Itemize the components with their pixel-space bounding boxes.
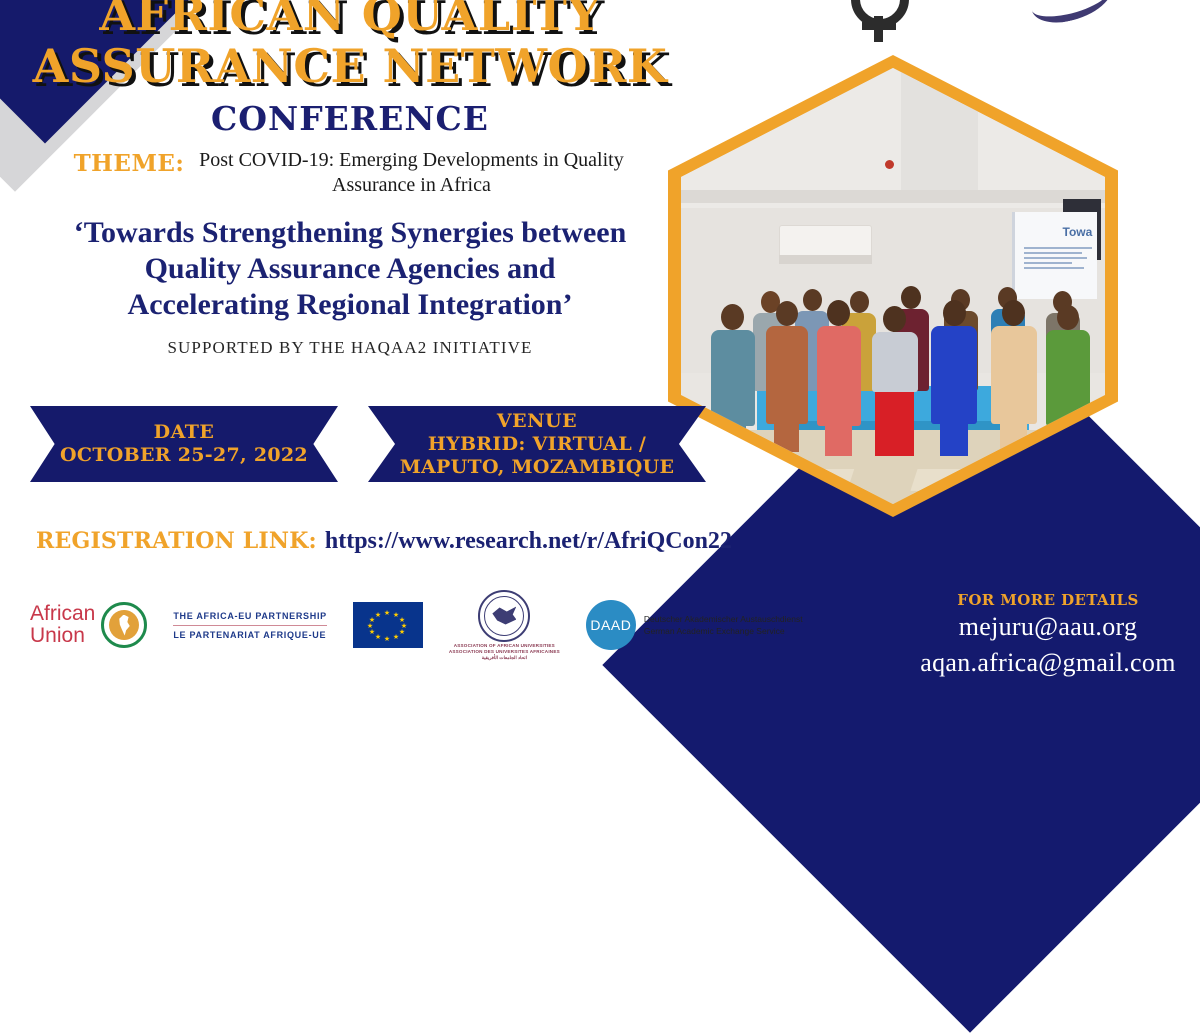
daad-line-en: German Academic Exchange Service [644, 625, 803, 637]
aau-caption-ar: اتحاد الجامعات الأفريقية [482, 655, 527, 661]
slogan-line-3: Accelerating Regional Integration’ [0, 287, 700, 323]
photo-ceiling-beam [681, 190, 1105, 203]
theme-text: Post COVID-19: Emerging Developments in … [196, 148, 626, 198]
photo-ceiling-panel [901, 68, 977, 199]
european-union-flag-icon: ★ ★ ★ ★ ★ ★ ★ ★ ★ ★ ★ ★ [353, 602, 423, 648]
photo-screen-line [1024, 262, 1071, 264]
supported-by-text: SUPPORTED BY THE HAQAA2 INITIATIVE [0, 338, 700, 358]
partner-logo-strip: African Union THE AFRICA-EU PARTNERSHIP … [30, 579, 803, 671]
theme-label: THEME: [74, 148, 185, 177]
venue-ribbon-line-2: MAPUTO, MOZAMBIQUE [400, 456, 675, 479]
daad-mark-icon: DAAD [586, 600, 636, 650]
contact-email-primary[interactable]: mejuru@aau.org [908, 609, 1188, 645]
eu-star-icon: ★ [375, 634, 381, 641]
venue-ribbon-title: VENUE [497, 410, 577, 433]
venue-ribbon-line-1: HYBRID: VIRTUAL / [428, 433, 646, 456]
photo-screen-body-lines [1024, 247, 1092, 272]
photo-screen-line [1024, 247, 1092, 249]
african-union-word-1: African [30, 603, 95, 625]
photo-screen-heading: Towa [1063, 225, 1093, 239]
contact-block: FOR MORE DETAILS mejuru@aau.org aqan.afr… [908, 591, 1188, 681]
headline-line-2: ASSURANCE NETWORK [0, 40, 700, 92]
slogan-line-1: ‘Towards Strengthening Synergies between [0, 215, 700, 251]
photo-ac-vent [779, 255, 872, 264]
aau-caption-en: ASSOCIATION OF AFRICAN UNIVERSITIES [454, 643, 555, 648]
photo-screen-line [1024, 252, 1082, 254]
conference-slogan: ‘Towards Strengthening Synergies between… [0, 215, 700, 323]
eu-star-icon: ★ [384, 610, 390, 617]
daad-logo: DAAD Deutscher Akademischer Austauschdie… [586, 600, 803, 650]
photo-person [931, 300, 977, 456]
africa-eu-divider [173, 625, 327, 626]
registration-link[interactable]: https://www.research.net/r/AfriQCon22 [325, 528, 732, 555]
africa-eu-line-fr: LE PARTENARIAT AFRIQUE-UE [173, 630, 327, 640]
african-union-word-2: Union [30, 625, 95, 647]
group-photo: Towa [681, 68, 1105, 504]
eu-star-icon: ★ [399, 629, 405, 636]
aau-caption-fr: ASSOCIATION DES UNIVERSITES AFRICAINES [449, 649, 560, 654]
registration-row: REGISTRATION LINK: https://www.research.… [36, 528, 732, 555]
photo-person [817, 300, 861, 456]
photo-person [711, 304, 755, 452]
venue-ribbon: VENUE HYBRID: VIRTUAL / MAPUTO, MOZAMBIQ… [368, 406, 706, 482]
photo-person [991, 300, 1037, 456]
slogan-line-2: Quality Assurance Agencies and [0, 251, 700, 287]
photo-person [766, 301, 808, 452]
date-ribbon-title: DATE [154, 421, 215, 444]
date-ribbon-value: OCTOBER 25-27, 2022 [60, 444, 308, 467]
daad-wordmark: Deutscher Akademischer Austauschdienst G… [644, 613, 803, 637]
partial-swoosh-logo-icon [1026, 0, 1118, 28]
photo-screen-line [1024, 257, 1086, 259]
theme-row: THEME: Post COVID-19: Emerging Developme… [0, 148, 700, 198]
poster-headline: AFRICAN QUALITY ASSURANCE NETWORK CONFER… [0, 0, 700, 142]
registration-label: REGISTRATION LINK: [36, 528, 317, 554]
aau-seal-ring [484, 596, 524, 636]
africa-eu-partnership-logo: THE AFRICA-EU PARTNERSHIP LE PARTENARIAT… [173, 611, 327, 640]
headline-line-1: AFRICAN QUALITY [0, 0, 700, 40]
eu-star-icon: ★ [384, 636, 390, 643]
association-of-african-universities-logo: ASSOCIATION OF AFRICAN UNIVERSITIES ASSO… [449, 590, 560, 661]
aau-seal-icon [478, 590, 530, 642]
contact-heading: FOR MORE DETAILS [908, 591, 1188, 609]
eu-star-icon: ★ [375, 612, 381, 619]
aau-emblem-glyph-icon [492, 606, 516, 626]
photo-screen-line [1024, 267, 1084, 269]
daad-line-de: Deutscher Akademischer Austauschdienst [644, 613, 803, 625]
eu-star-icon: ★ [393, 634, 399, 641]
photo-alarm-icon [885, 160, 894, 169]
africa-eu-line-en: THE AFRICA-EU PARTNERSHIP [173, 611, 327, 621]
photo-person [872, 306, 918, 456]
african-union-emblem-icon [101, 602, 147, 648]
date-ribbon: DATE OCTOBER 25-27, 2022 [30, 406, 338, 482]
partial-org-logo-bar-icon [862, 22, 896, 30]
headline-conference-word: CONFERENCE [0, 96, 700, 142]
contact-email-secondary[interactable]: aqan.africa@gmail.com [908, 645, 1188, 681]
african-union-logo: African Union [30, 602, 147, 648]
african-union-wordmark: African Union [30, 603, 95, 647]
